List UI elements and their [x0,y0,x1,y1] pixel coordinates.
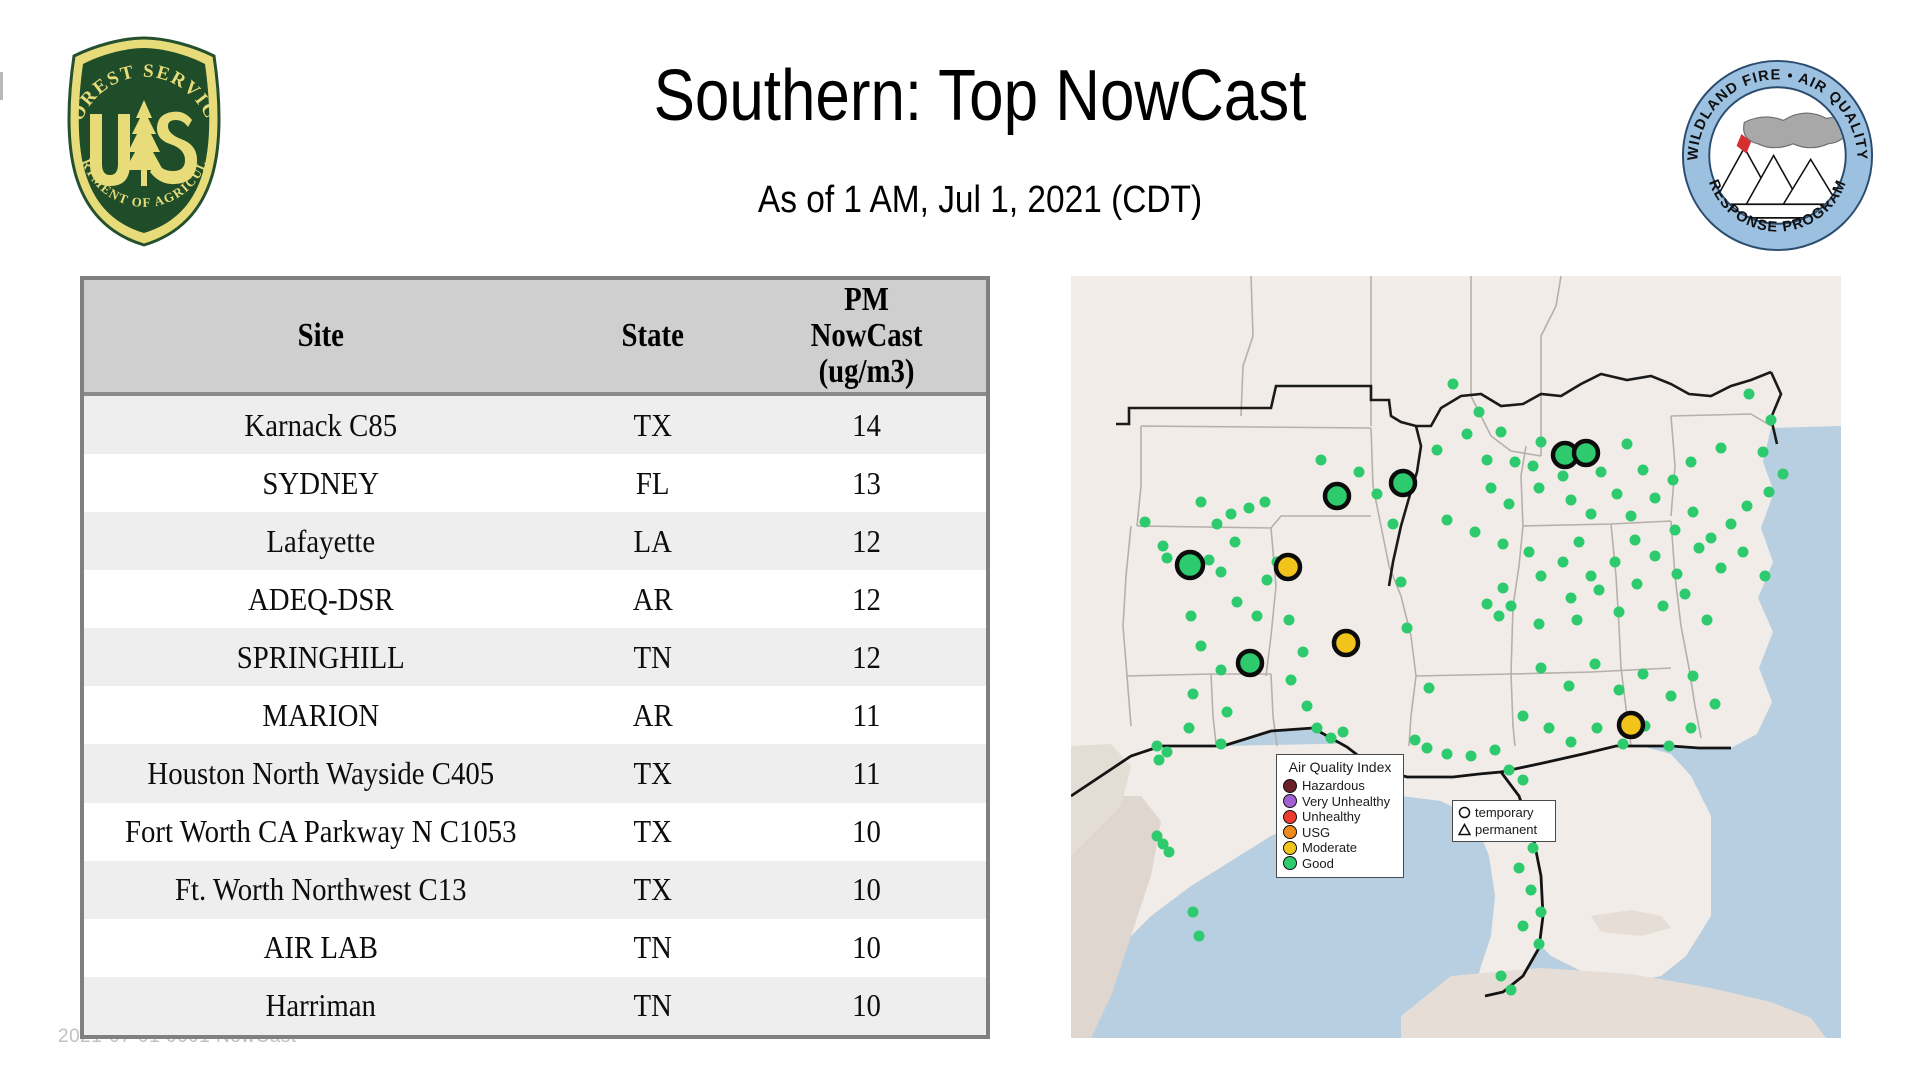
legend-item-very-unhealthy: Very Unhealthy [1283,794,1397,810]
cell-state: TN [558,628,747,686]
legend-item-hazardous: Hazardous [1283,778,1397,794]
cell-pm: 10 [747,919,986,977]
left-edge-artifact [0,72,3,100]
column-header-site: Site [98,280,543,394]
table-row: AIR LAB TN 10 [84,919,986,977]
table-row: Karnack C85 TX 14 [84,394,986,454]
map-marker-good [1177,552,1203,578]
circle-icon [1458,806,1471,819]
table-row: Lafayette LA 12 [84,512,986,570]
cell-site: SPRINGHILL [84,628,558,686]
column-header-state: State [563,280,741,394]
cell-site: Fort Worth CA Parkway N C1053 [84,803,558,861]
table-row: Fort Worth CA Parkway N C1053 TX 10 [84,803,986,861]
cell-site: Lafayette [84,512,558,570]
cell-site: Ft. Worth Northwest C13 [84,861,558,919]
cell-site: Houston North Wayside C405 [84,744,558,802]
cell-state: TX [558,803,747,861]
cell-pm: 14 [747,394,986,454]
cell-state: FL [558,454,747,512]
table-body: Karnack C85 TX 14 SYDNEY FL 13 Lafayette… [84,394,986,1035]
legend-label: permanent [1475,822,1537,838]
cell-site: ADEQ-DSR [84,570,558,628]
table-row: Harriman TN 10 [84,977,986,1035]
table-header-row: Site State PM NowCast (ug/m3) [84,280,986,394]
cell-pm: 11 [747,686,986,744]
table-row: SPRINGHILL TN 12 [84,628,986,686]
page-subtitle: As of 1 AM, Jul 1, 2021 (CDT) [470,180,1491,222]
cell-site: MARION [84,686,558,744]
map-marker-good [1238,651,1262,675]
legend-label: temporary [1475,805,1534,821]
table-row: SYDNEY FL 13 [84,454,986,512]
aqi-swatch-unhealthy [1283,810,1297,824]
cell-state: AR [558,686,747,744]
legend-label: Good [1302,856,1334,871]
cell-pm: 10 [747,977,986,1035]
aqi-swatch-moderate [1283,841,1297,855]
aqi-swatch-very-unhealthy [1283,794,1297,808]
cell-state: TN [558,977,747,1035]
cell-state: LA [558,512,747,570]
map-marker-good [1574,441,1598,465]
map-marker-good [1325,484,1349,508]
cell-state: TX [558,744,747,802]
map-legend-aqi: Air Quality Index Hazardous Very Unhealt… [1276,754,1404,878]
legend-item-unhealthy: Unhealthy [1283,809,1397,825]
cell-pm: 11 [747,744,986,802]
cell-state: TX [558,861,747,919]
table-row: MARION AR 11 [84,686,986,744]
cell-site: AIR LAB [84,919,558,977]
cell-pm: 13 [747,454,986,512]
aqi-monitor-map[interactable] [1071,276,1841,1038]
legend-item-usg: USG [1283,825,1397,841]
legend-item-moderate: Moderate [1283,840,1397,856]
slide-root: FOREST SERVICE DEPARTMENT OF AGRICULTURE… [0,0,1920,1080]
legend-label: Unhealthy [1302,809,1361,824]
table-row: Ft. Worth Northwest C13 TX 10 [84,861,986,919]
legend-title: Air Quality Index [1283,759,1397,775]
table-row: Houston North Wayside C405 TX 11 [84,744,986,802]
cell-site: Harriman [84,977,558,1035]
legend-label: USG [1302,825,1330,840]
cell-pm: 10 [747,803,986,861]
legend-item-temporary: temporary [1458,804,1550,821]
nowcast-table: Site State PM NowCast (ug/m3) Karnack C8… [80,276,990,1039]
cell-pm: 12 [747,512,986,570]
aqi-swatch-hazardous [1283,779,1297,793]
cell-pm: 12 [747,570,986,628]
cell-pm: 10 [747,861,986,919]
table-row: ADEQ-DSR AR 12 [84,570,986,628]
cell-site: SYDNEY [84,454,558,512]
aqi-swatch-good [1283,856,1297,870]
cell-state: AR [558,570,747,628]
cell-site: Karnack C85 [84,394,558,454]
legend-label: Very Unhealthy [1302,794,1390,809]
triangle-icon [1458,823,1471,836]
wfaqrp-logo: WILDLAND FIRE • AIR QUALITY RESPONSE PRO… [1680,58,1875,253]
legend-label: Hazardous [1302,778,1365,793]
map-marker-good [1391,471,1415,495]
usfs-shield-logo: FOREST SERVICE DEPARTMENT OF AGRICULTURE [52,34,237,249]
legend-item-permanent: permanent [1458,821,1550,838]
cell-state: TN [558,919,747,977]
column-header-pm-nowcast: PM NowCast (ug/m3) [754,280,979,394]
cell-state: TX [558,394,747,454]
map-marker-moderate [1276,555,1300,579]
legend-item-good: Good [1283,856,1397,872]
page-title: Southern: Top NowCast [481,58,1479,136]
cell-pm: 12 [747,628,986,686]
map-marker-moderate [1619,713,1643,737]
legend-label: Moderate [1302,840,1357,855]
map-marker-moderate [1334,631,1358,655]
aqi-swatch-usg [1283,825,1297,839]
map-legend-symbols: temporary permanent [1452,800,1556,842]
